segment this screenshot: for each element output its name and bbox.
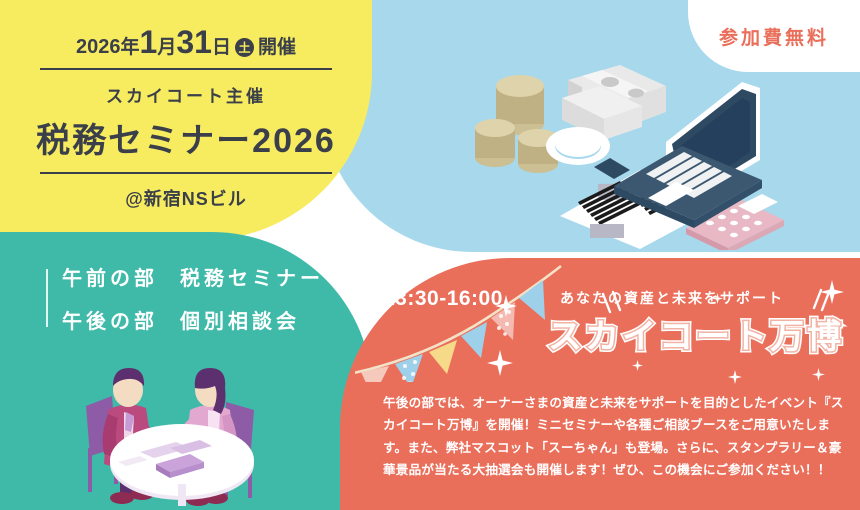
page-title: 税務セミナー2026 <box>36 113 336 162</box>
date-year-unit: 年 <box>121 32 140 59</box>
date-month: 1 <box>140 26 158 58</box>
expo-title-block: スカイコート万博 スカイコート万博 スカイコート万博 <box>548 309 844 358</box>
date-year: 2026 <box>76 36 121 59</box>
host-label: スカイコート主催 <box>106 82 266 107</box>
sessions-block: 午前の部 税務セミナー 午後の部 個別相談会 <box>32 262 324 334</box>
divider-bottom <box>40 172 332 174</box>
date-month-unit: 月 <box>157 32 176 59</box>
morning-session-label: 午前の部 <box>62 262 180 291</box>
afternoon-body-text: 午後の部では、オーナーさまの資産と未来をサポートを目的としたイベント『スカイコー… <box>383 392 848 482</box>
afternoon-session-label: 午後の部 <box>62 305 180 334</box>
free-admission-badge: 参加費無料 <box>688 0 860 72</box>
expo-title: スカイコート万博 <box>548 309 844 358</box>
consultation-illustration <box>78 352 288 510</box>
afternoon-tagline: あなたの資産と未来をサポート <box>560 288 784 308</box>
venue-label: @新宿NSビル <box>125 185 247 211</box>
coins-icon <box>475 75 558 173</box>
held-label: 開催 <box>258 32 296 59</box>
afternoon-time: 13:30-16:00 <box>383 287 503 311</box>
sessions-divider <box>32 269 62 327</box>
flyer-canvas: 参加費無料 2026 年 1 月 31 日 土 開催 スカイコート主催 税務セミ… <box>0 0 860 510</box>
date-day: 31 <box>176 26 212 58</box>
morning-session-value: 税務セミナー <box>180 262 324 291</box>
event-date-line: 2026 年 1 月 31 日 土 開催 <box>76 26 296 59</box>
divider-top <box>40 68 332 70</box>
afternoon-session-value: 個別相談会 <box>180 305 324 334</box>
date-day-unit: 日 <box>212 32 231 59</box>
free-admission-label: 参加費無料 <box>719 23 829 50</box>
hero-content: 2026 年 1 月 31 日 土 開催 スカイコート主催 税務セミナー2026… <box>0 0 372 236</box>
weekday-badge: 土 <box>235 38 254 57</box>
